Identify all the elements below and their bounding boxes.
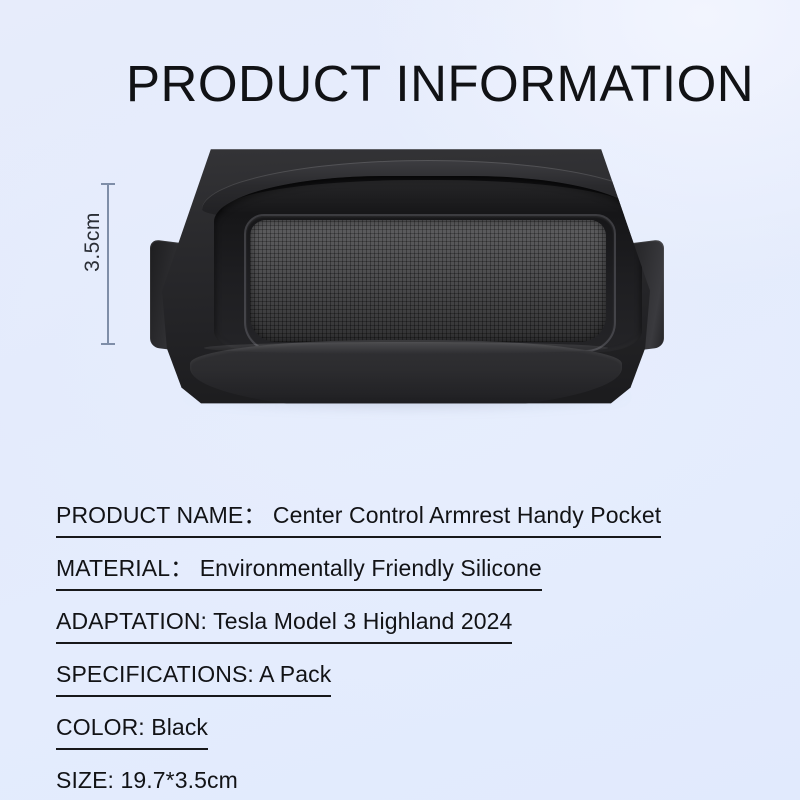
- page-title: PRODUCT INFORMATION: [126, 56, 754, 112]
- spec-text-specifications: SPECIFICATIONS: A Pack: [56, 659, 331, 689]
- spec-row-adaptation: ADAPTATION: Tesla Model 3 Highland 2024: [56, 606, 766, 651]
- spec-underline-product-name: [56, 536, 661, 538]
- spec-underline-specifications: [56, 695, 331, 697]
- product-information-card: PRODUCT INFORMATION 3.5cm PRODUCT NAME： …: [0, 0, 800, 800]
- spec-text-color: COLOR: Black: [56, 712, 208, 742]
- front-wall-highlight: [204, 342, 608, 354]
- specification-list: PRODUCT NAME： Center Control Armrest Han…: [56, 500, 766, 800]
- dimension-cap-bottom: [101, 343, 115, 345]
- spec-row-size: SIZE: 19.7*3.5cm: [56, 765, 766, 800]
- spec-row-color: COLOR: Black: [56, 712, 766, 757]
- spec-text-adaptation: ADAPTATION: Tesla Model 3 Highland 2024: [56, 606, 512, 636]
- dimension-line: [107, 183, 109, 345]
- spec-underline-color: [56, 748, 208, 750]
- spec-text-size: SIZE: 19.7*3.5cm: [56, 765, 238, 795]
- cavity-highlight: [222, 180, 634, 214]
- dimension-label: 3.5cm: [81, 187, 105, 297]
- product-body: [162, 144, 650, 406]
- spec-underline-adaptation: [56, 642, 512, 644]
- height-dimension-annotation: 3.5cm: [62, 178, 122, 350]
- product-inner-cavity: [214, 176, 642, 352]
- spec-text-material: MATERIAL： Environmentally Friendly Silic…: [56, 553, 542, 583]
- spec-underline-material: [56, 589, 542, 591]
- spec-row-product-name: PRODUCT NAME： Center Control Armrest Han…: [56, 500, 766, 545]
- product-image: [140, 130, 672, 420]
- spec-row-material: MATERIAL： Environmentally Friendly Silic…: [56, 553, 766, 598]
- spec-text-product-name: PRODUCT NAME： Center Control Armrest Han…: [56, 500, 661, 530]
- product-floor-lip: [244, 214, 616, 352]
- product-front-wall: [190, 340, 622, 410]
- spec-row-specifications: SPECIFICATIONS: A Pack: [56, 659, 766, 704]
